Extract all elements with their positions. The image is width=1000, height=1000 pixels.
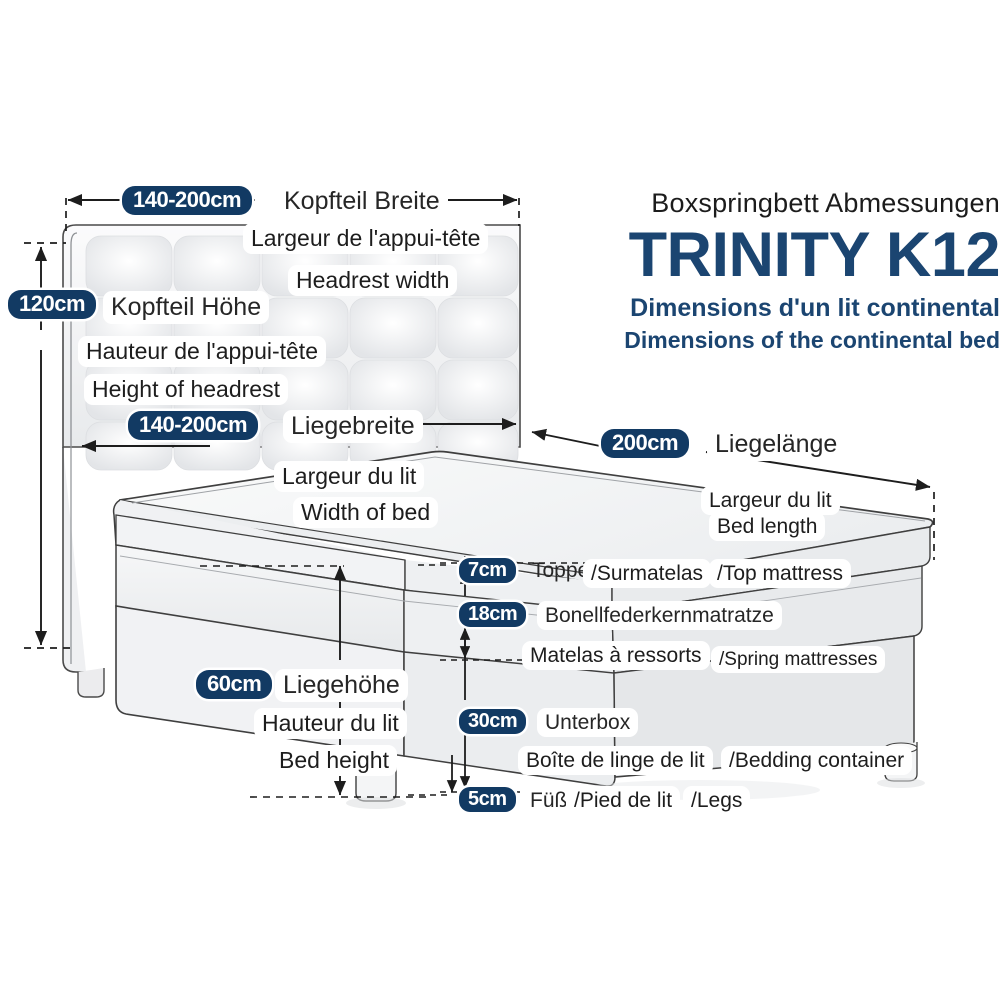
badge-spring-mattress: 18cm (459, 602, 526, 627)
label-bed-width-en: Width of bed (293, 497, 438, 528)
label-underbox-fr: Boîte de linge de lit (518, 746, 713, 775)
label-headrest-width-fr: Largeur de l'appui-tête (243, 223, 488, 254)
label-bed-length-fr: Largeur du lit (701, 486, 840, 515)
label-headrest-width-de: Kopfteil Breite (276, 185, 448, 218)
label-bed-height-de: Liegehöhe (275, 669, 408, 702)
label-bed-length-de: Liegelänge (707, 428, 845, 461)
bed-illustration (0, 0, 1000, 1000)
label-legs-en: /Legs (683, 786, 750, 815)
diagram-canvas: Boxspringbett Abmessungen TRINITY K12 Di… (0, 0, 1000, 1000)
label-headrest-height-fr: Hauteur de l'appui-tête (78, 336, 326, 367)
title-block: Boxspringbett Abmessungen TRINITY K12 Di… (548, 186, 1000, 355)
title-subline-fr: Dimensions d'un lit continental (548, 292, 1000, 325)
title-model: TRINITY K12 (548, 222, 1000, 288)
label-headrest-height-en: Height of headrest (84, 374, 288, 405)
badge-headrest-width: 140-200cm (122, 186, 252, 215)
label-headrest-height-de: Kopfteil Höhe (103, 291, 269, 324)
label-underbox-de: Unterbox (537, 708, 638, 737)
label-bed-width-fr: Largeur du lit (274, 461, 424, 492)
badge-underbox: 30cm (459, 709, 526, 734)
title-subline-en: Dimensions of the continental bed (548, 325, 1000, 355)
badge-legs: 5cm (459, 787, 516, 812)
label-topper-en: /Top mattress (709, 559, 851, 588)
badge-bed-width: 140-200cm (128, 411, 258, 440)
label-spring-mattress-en: /Spring mattresses (711, 646, 885, 673)
label-legs-fr: /Pied de lit (566, 786, 680, 815)
bed-length-arrow-left (532, 432, 600, 446)
label-spring-mattress-fr: Matelas à ressorts (522, 641, 710, 670)
label-bed-length-en: Bed length (709, 512, 825, 541)
label-bed-width-de: Liegebreite (283, 410, 423, 443)
label-topper-fr: /Surmatelas (583, 559, 711, 588)
badge-headrest-height: 120cm (8, 290, 96, 319)
badge-bed-length: 200cm (601, 429, 689, 458)
label-underbox-en: /Bedding container (721, 746, 912, 775)
title-superline: Boxspringbett Abmessungen (548, 186, 1000, 220)
label-headrest-width-en: Headrest width (288, 265, 457, 296)
badge-topper: 7cm (459, 558, 516, 583)
label-spring-mattress-de: Bonellfederkernmatratze (537, 601, 782, 630)
label-bed-height-en: Bed height (271, 745, 397, 776)
label-bed-height-fr: Hauteur du lit (254, 708, 407, 739)
badge-bed-height: 60cm (196, 670, 272, 699)
